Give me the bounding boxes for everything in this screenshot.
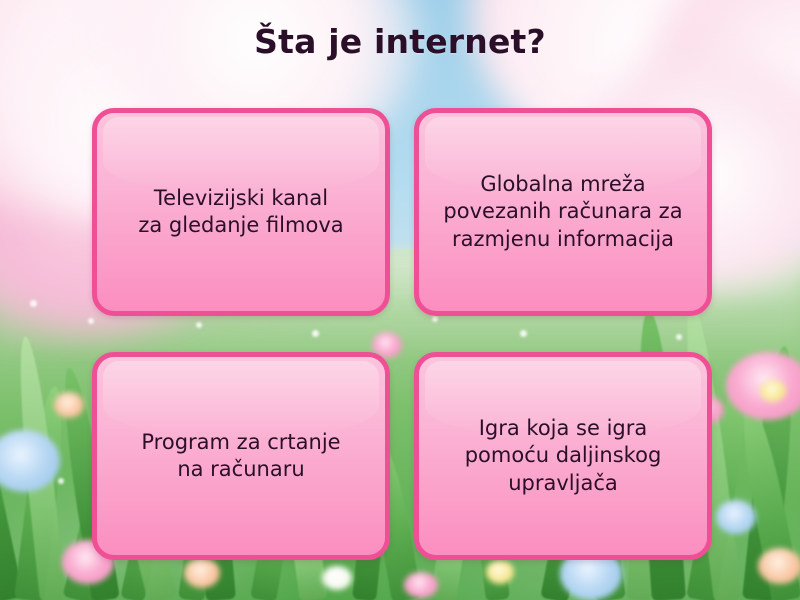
quiz-page: Šta je internet? Televizijski kanal za g… [0,0,800,600]
page-title: Šta je internet? [0,22,800,61]
answer-options-grid: Televizijski kanal za gledanje filmova G… [92,108,712,560]
answer-card-2-label: Globalna mreža povezanih računara za raz… [443,171,682,253]
answer-card-1-label: Televizijski kanal za gledanje filmova [138,185,343,240]
answer-card-4-label: Igra koja se igra pomoću daljinskog upra… [465,415,662,497]
answer-card-2[interactable]: Globalna mreža povezanih računara za raz… [414,108,712,316]
answer-card-3[interactable]: Program za crtanje na računaru [92,352,390,560]
answer-card-3-label: Program za crtanje na računaru [141,429,340,484]
answer-card-1[interactable]: Televizijski kanal za gledanje filmova [92,108,390,316]
answer-card-4[interactable]: Igra koja se igra pomoću daljinskog upra… [414,352,712,560]
